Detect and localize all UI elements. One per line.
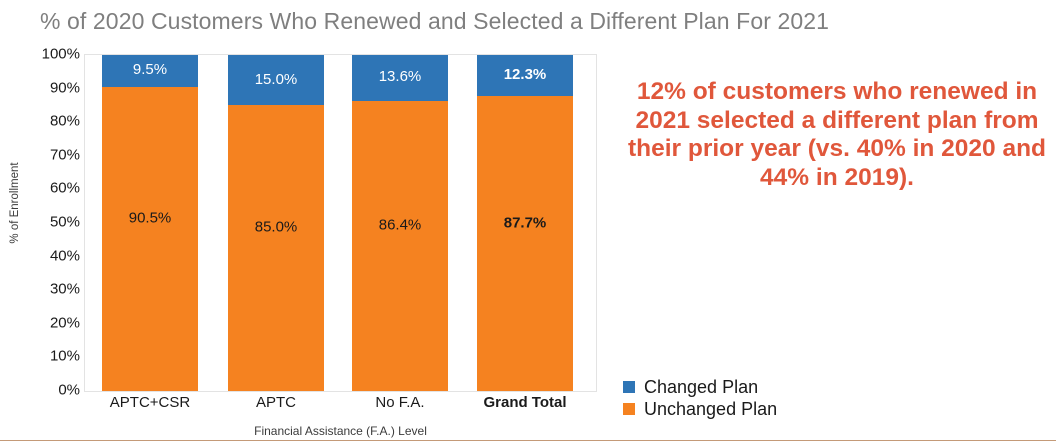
bottom-divider	[0, 440, 1056, 441]
chart-legend: Changed PlanUnchanged Plan	[623, 376, 777, 420]
bar-segment-unchanged-plan[interactable]: 86.4%	[352, 101, 448, 391]
y-axis-tick-labels: 0%10%20%30%40%50%60%70%80%90%100%	[22, 54, 80, 391]
y-axis-tick-label: 80%	[34, 113, 80, 130]
bar-group[interactable]: 9.5%90.5%	[102, 55, 198, 391]
bar-segment-label: 13.6%	[379, 69, 422, 84]
legend-item[interactable]: Unchanged Plan	[623, 398, 777, 420]
y-axis-tick-label: 0%	[34, 382, 80, 399]
bar-segment-label: 90.5%	[129, 210, 172, 225]
callout-text: 12% of customers who renewed in 2021 sel…	[625, 78, 1049, 193]
bar-segment-label: 9.5%	[133, 62, 167, 77]
stacked-bar: 15.0%85.0%	[228, 55, 324, 391]
square-swatch-icon	[623, 381, 635, 393]
chart-title: % of 2020 Customers Who Renewed and Sele…	[40, 8, 829, 35]
bar-segment-unchanged-plan[interactable]: 90.5%	[102, 87, 198, 391]
bar-segment-label: 85.0%	[255, 220, 298, 235]
y-axis-tick-label: 50%	[34, 214, 80, 231]
bar-segment-changed-plan[interactable]: 12.3%	[477, 55, 573, 96]
y-axis-tick-label: 100%	[34, 46, 80, 63]
x-axis-tick-label: APTC+CSR	[80, 394, 220, 411]
bar-segment-unchanged-plan[interactable]: 87.7%	[477, 96, 573, 391]
bar-group[interactable]: 13.6%86.4%	[352, 55, 448, 391]
x-axis-tick-label: Grand Total	[455, 394, 595, 411]
y-axis-title: % of Enrollment	[9, 138, 21, 268]
stacked-bar: 13.6%86.4%	[352, 55, 448, 391]
y-axis-tick-label: 10%	[34, 348, 80, 365]
bar-group[interactable]: 15.0%85.0%	[228, 55, 324, 391]
bar-segment-label: 87.7%	[504, 215, 547, 230]
legend-item[interactable]: Changed Plan	[623, 376, 777, 398]
y-axis-tick-label: 30%	[34, 281, 80, 298]
stacked-bar: 9.5%90.5%	[102, 55, 198, 391]
bar-segment-changed-plan[interactable]: 13.6%	[352, 55, 448, 101]
bar-segment-label: 15.0%	[255, 72, 298, 87]
bar-segment-label: 12.3%	[504, 67, 547, 82]
bar-segment-changed-plan[interactable]: 9.5%	[102, 55, 198, 87]
y-axis-tick-label: 70%	[34, 146, 80, 163]
legend-item-label: Changed Plan	[644, 377, 758, 398]
square-swatch-icon	[623, 403, 635, 415]
bar-group[interactable]: 12.3%87.7%	[477, 55, 573, 391]
x-axis-title: Financial Assistance (F.A.) Level	[84, 424, 597, 438]
bar-segment-label: 86.4%	[379, 217, 422, 232]
x-axis-tick-label: APTC	[206, 394, 346, 411]
y-axis-tick-label: 40%	[34, 247, 80, 264]
bars-container: 9.5%90.5%15.0%85.0%13.6%86.4%12.3%87.7%	[85, 55, 596, 391]
y-axis-tick-label: 20%	[34, 314, 80, 331]
bar-segment-changed-plan[interactable]: 15.0%	[228, 55, 324, 105]
bar-segment-unchanged-plan[interactable]: 85.0%	[228, 105, 324, 391]
stacked-bar: 12.3%87.7%	[477, 55, 573, 391]
legend-item-label: Unchanged Plan	[644, 399, 777, 420]
x-axis-tick-labels: APTC+CSRAPTCNo F.A.Grand Total	[85, 394, 596, 416]
y-axis-tick-label: 60%	[34, 180, 80, 197]
y-axis-tick-label: 90%	[34, 79, 80, 96]
x-axis-tick-label: No F.A.	[330, 394, 470, 411]
